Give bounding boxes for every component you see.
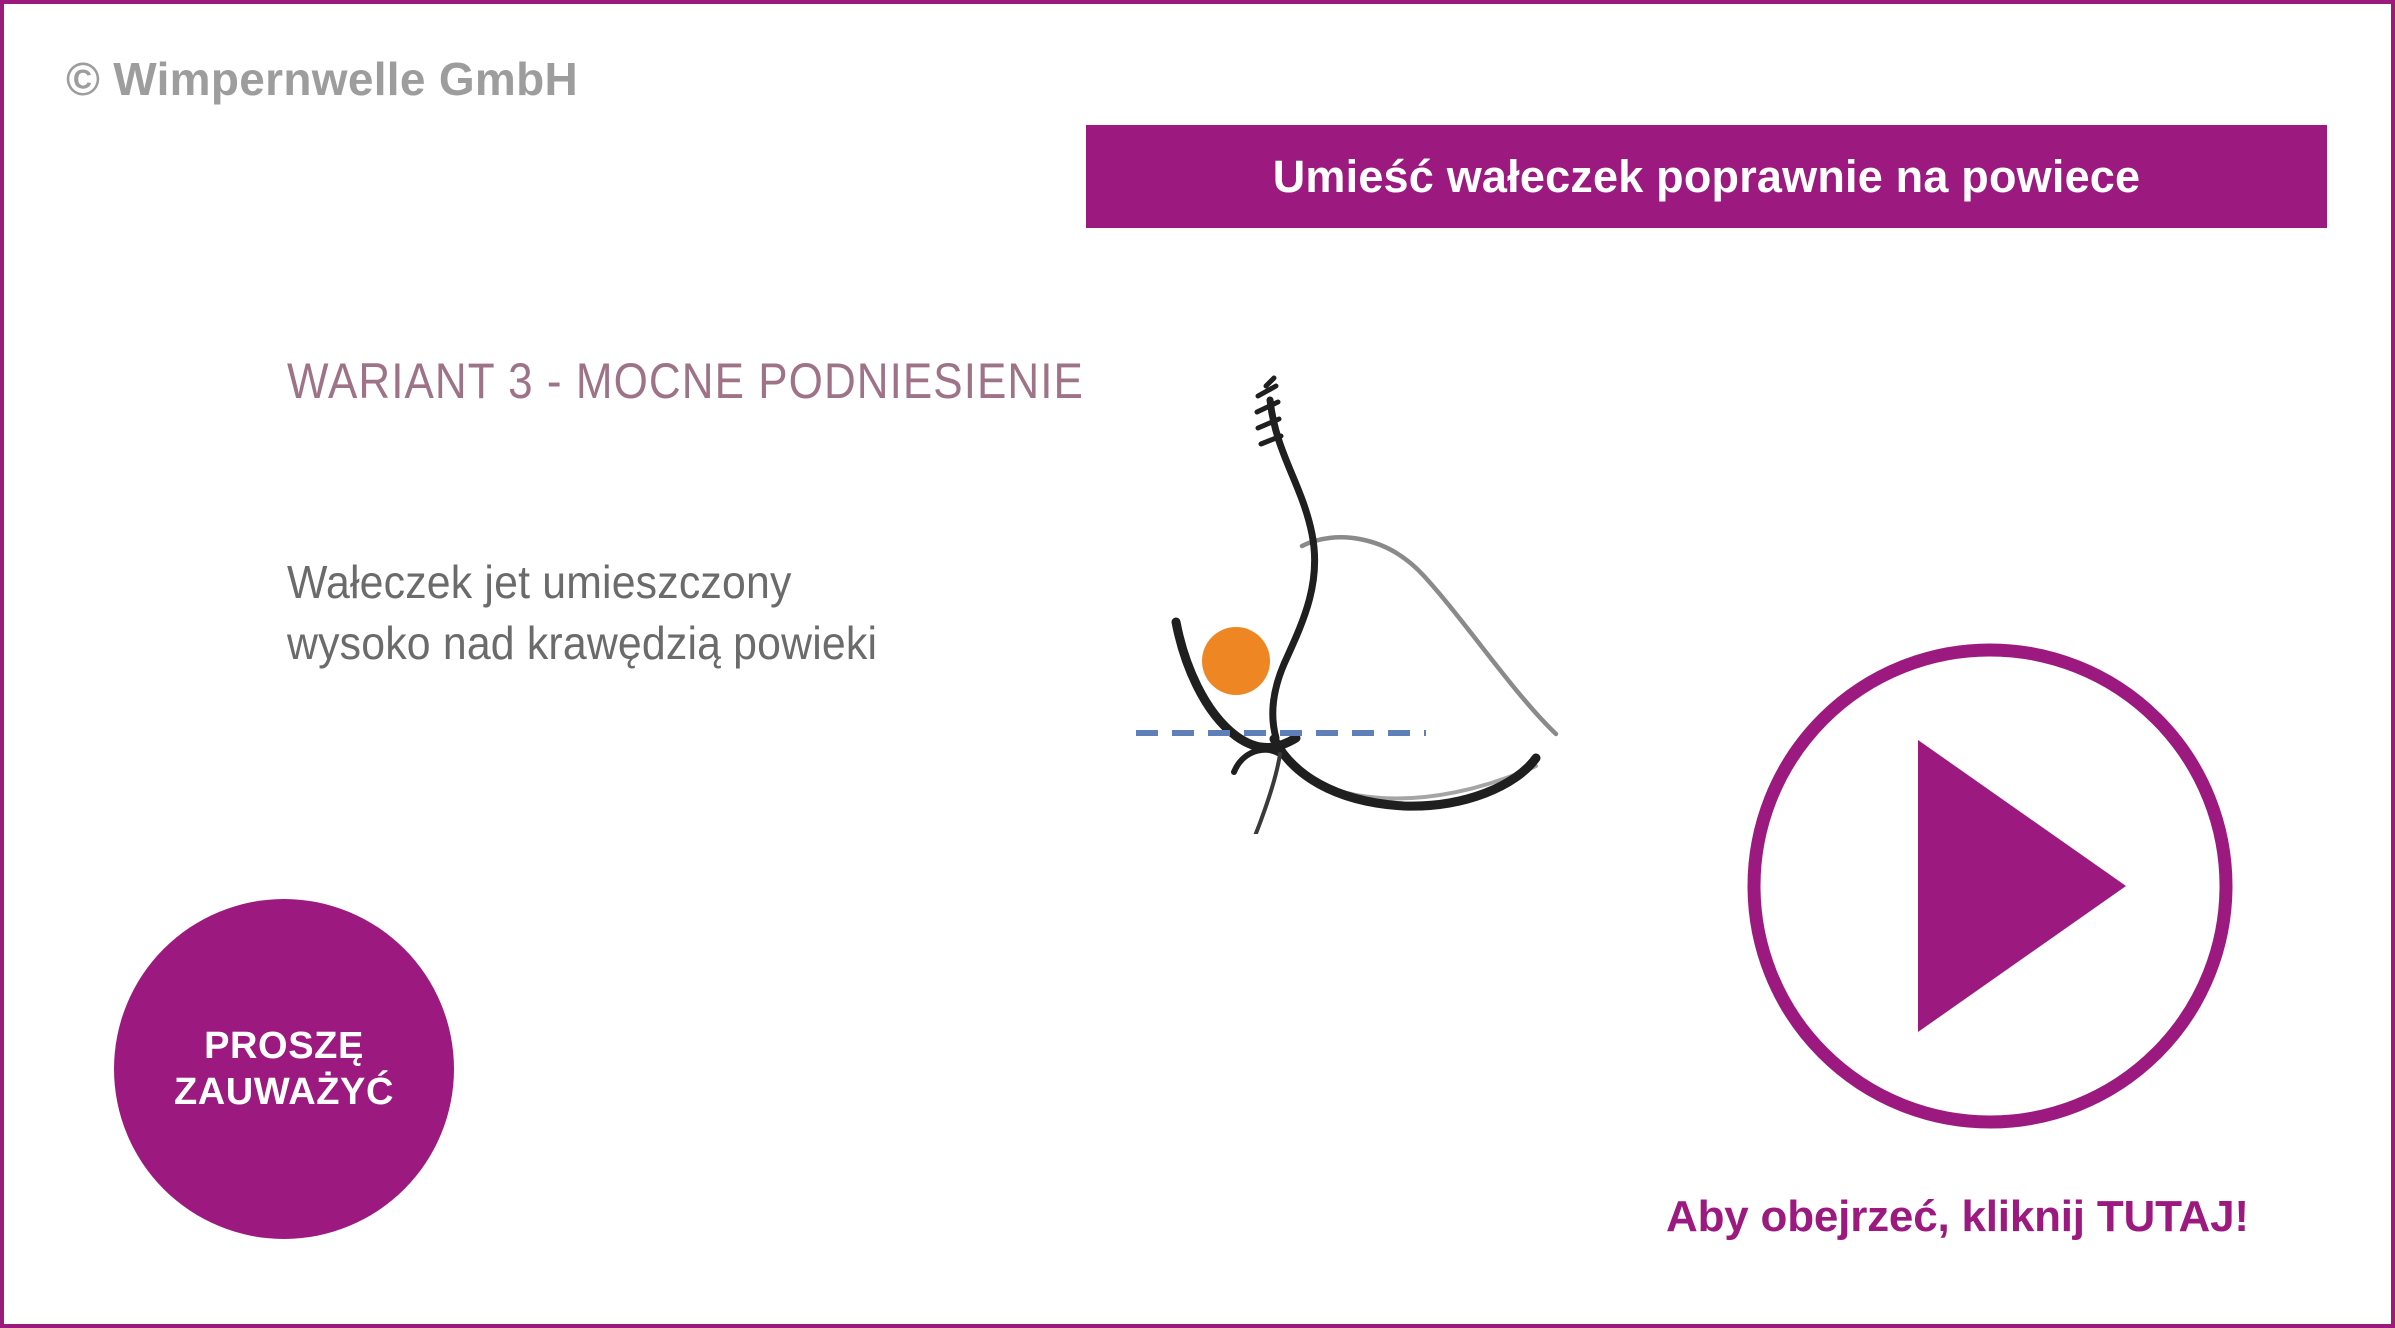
note-badge-line-1: PROSZĘ bbox=[204, 1023, 364, 1069]
click-here-caption[interactable]: Aby obejrzeć, kliknij TUTAJ! bbox=[1666, 1192, 2249, 1242]
lower-lash-line bbox=[1274, 739, 1536, 806]
upper-eyelash-line bbox=[1270, 400, 1315, 738]
header-banner-title: Umieść wałeczek poprawnie na powiece bbox=[1273, 151, 2141, 203]
header-banner: Umieść wałeczek poprawnie na powiece bbox=[1086, 125, 2327, 228]
roller-circle bbox=[1202, 627, 1270, 695]
face-contour-line bbox=[1212, 754, 1280, 834]
eye-diagram bbox=[1124, 334, 1624, 834]
slide-canvas: © Wimpernwelle GmbH Umieść wałeczek popr… bbox=[0, 0, 2395, 1328]
variant-description: Wałeczek jet umieszczony wysoko nad kraw… bbox=[287, 552, 877, 673]
variant-description-line-2: wysoko nad krawędzią powieki bbox=[287, 613, 877, 674]
eyeball-arc-line bbox=[1302, 537, 1556, 734]
lower-lid-inner-line bbox=[1286, 759, 1536, 798]
note-badge: PROSZĘ ZAUWAŻYĆ bbox=[114, 899, 454, 1239]
play-video-button[interactable] bbox=[1744, 640, 2236, 1132]
variant-title: WARIANT 3 - MOCNE PODNIESIENIE bbox=[287, 352, 1084, 410]
click-here-caption-prefix: Aby obejrzeć, kliknij bbox=[1666, 1192, 2097, 1241]
note-badge-line-2: ZAUWAŻYĆ bbox=[174, 1069, 394, 1115]
click-here-caption-emphasis: TUTAJ! bbox=[2097, 1192, 2249, 1241]
variant-description-line-1: Wałeczek jet umieszczony bbox=[287, 552, 877, 613]
play-triangle-icon bbox=[1918, 740, 2126, 1032]
copyright-notice: © Wimpernwelle GmbH bbox=[66, 52, 578, 106]
lower-lid-hook-line bbox=[1234, 750, 1280, 772]
